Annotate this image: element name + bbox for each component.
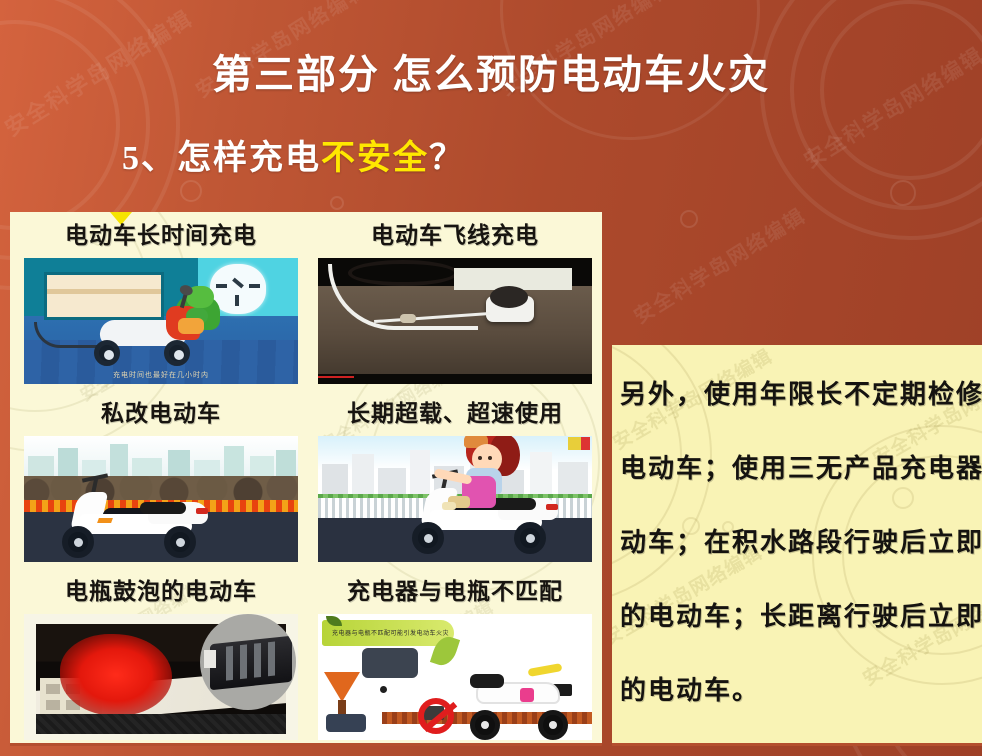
cell-image-modified-scooter bbox=[24, 436, 298, 562]
cell-caption: 电动车长时间充电 bbox=[16, 212, 306, 258]
cell-image-overlay-text: 充电时间也最好在几小时内 bbox=[24, 370, 298, 380]
background-ring-decor bbox=[890, 180, 916, 206]
subtitle-number: 5、 bbox=[122, 140, 177, 177]
subtitle-text-before: 怎样充电 bbox=[177, 140, 321, 177]
grid-rows: 电动车长时间充电 充电时间也最好在几小时内 bbox=[10, 212, 602, 746]
background-ring-decor bbox=[680, 210, 698, 228]
grid-row: 电瓶鼓泡的电动车 bbox=[10, 568, 602, 746]
cell-image-long-charging: 充电时间也最好在几小时内 bbox=[24, 258, 298, 384]
background-ring-decor bbox=[330, 196, 344, 210]
grid-row: 私改电动车 长期超载、超速使用 bbox=[10, 390, 602, 568]
cell-caption: 长期超载、超速使用 bbox=[310, 390, 600, 436]
grid-cell[interactable]: 电动车长时间充电 充电时间也最好在几小时内 bbox=[16, 212, 306, 390]
cell-image-flying-line bbox=[318, 258, 592, 384]
text-line: 的电动车。 bbox=[620, 653, 976, 727]
page-title: 第三部分 怎么预防电动车火灾 bbox=[0, 42, 982, 100]
background-arc-decor bbox=[790, 0, 982, 210]
cell-image-overload-rider bbox=[318, 436, 592, 562]
subtitle: 5、怎样充电不安全？ bbox=[122, 130, 465, 179]
background-ring-decor bbox=[180, 180, 202, 202]
cell-caption: 充电器与电瓶不匹配 bbox=[310, 568, 600, 614]
text-line: 动车；在积水路段行驶后立即充电 bbox=[620, 505, 976, 579]
cell-caption: 私改电动车 bbox=[16, 390, 306, 436]
watermark-text: 安全科学岛网络编辑 bbox=[627, 200, 810, 330]
text-panel-lines: 另外，使用年限长不定期检修的 电动车；使用三无产品充电器的电 动车；在积水路段行… bbox=[612, 345, 982, 727]
text-line: 电动车；使用三无产品充电器的电 bbox=[620, 431, 976, 505]
grid-cell[interactable]: 充电器与电瓶不匹配 充电器与电瓶不匹配可能引发电动车火灾 bbox=[310, 568, 600, 746]
grid-cell[interactable]: 私改电动车 bbox=[16, 390, 306, 568]
cell-caption: 电瓶鼓泡的电动车 bbox=[16, 568, 306, 614]
cell-caption: 电动车飞线充电 bbox=[310, 212, 600, 258]
explanatory-text-panel: 安全科学岛网络编辑 安全科学岛网络编辑 安全科学岛网络编辑 安全科学岛网络编辑 … bbox=[612, 345, 982, 746]
text-line: 另外，使用年限长不定期检修的 bbox=[620, 357, 976, 431]
image-grid-panel: 安全科学岛网络编辑 安全科学岛网络编辑 安全科学岛网络编辑 安全科学岛网络编辑 … bbox=[10, 212, 602, 746]
cell-image-charger-mismatch: 充电器与电瓶不匹配可能引发电动车火灾 bbox=[318, 614, 592, 740]
cell-image-swollen-battery bbox=[24, 614, 298, 740]
grid-row: 电动车长时间充电 充电时间也最好在几小时内 bbox=[10, 212, 602, 390]
grid-cell[interactable]: 长期超载、超速使用 bbox=[310, 390, 600, 568]
subtitle-highlight: 不安全 bbox=[321, 140, 429, 177]
subtitle-text-after: ？ bbox=[429, 140, 465, 177]
background-arc-decor bbox=[760, 0, 982, 240]
grid-cell[interactable]: 电动车飞线充电 bbox=[310, 212, 600, 390]
grid-cell[interactable]: 电瓶鼓泡的电动车 bbox=[16, 568, 306, 746]
slide-canvas: 安全科学岛网络编辑 安全科学岛网络编辑 安全科学岛网络编辑 安全科学岛网络编辑 … bbox=[0, 0, 982, 756]
text-line: 的电动车；长距离行驶后立即充电 bbox=[620, 579, 976, 653]
